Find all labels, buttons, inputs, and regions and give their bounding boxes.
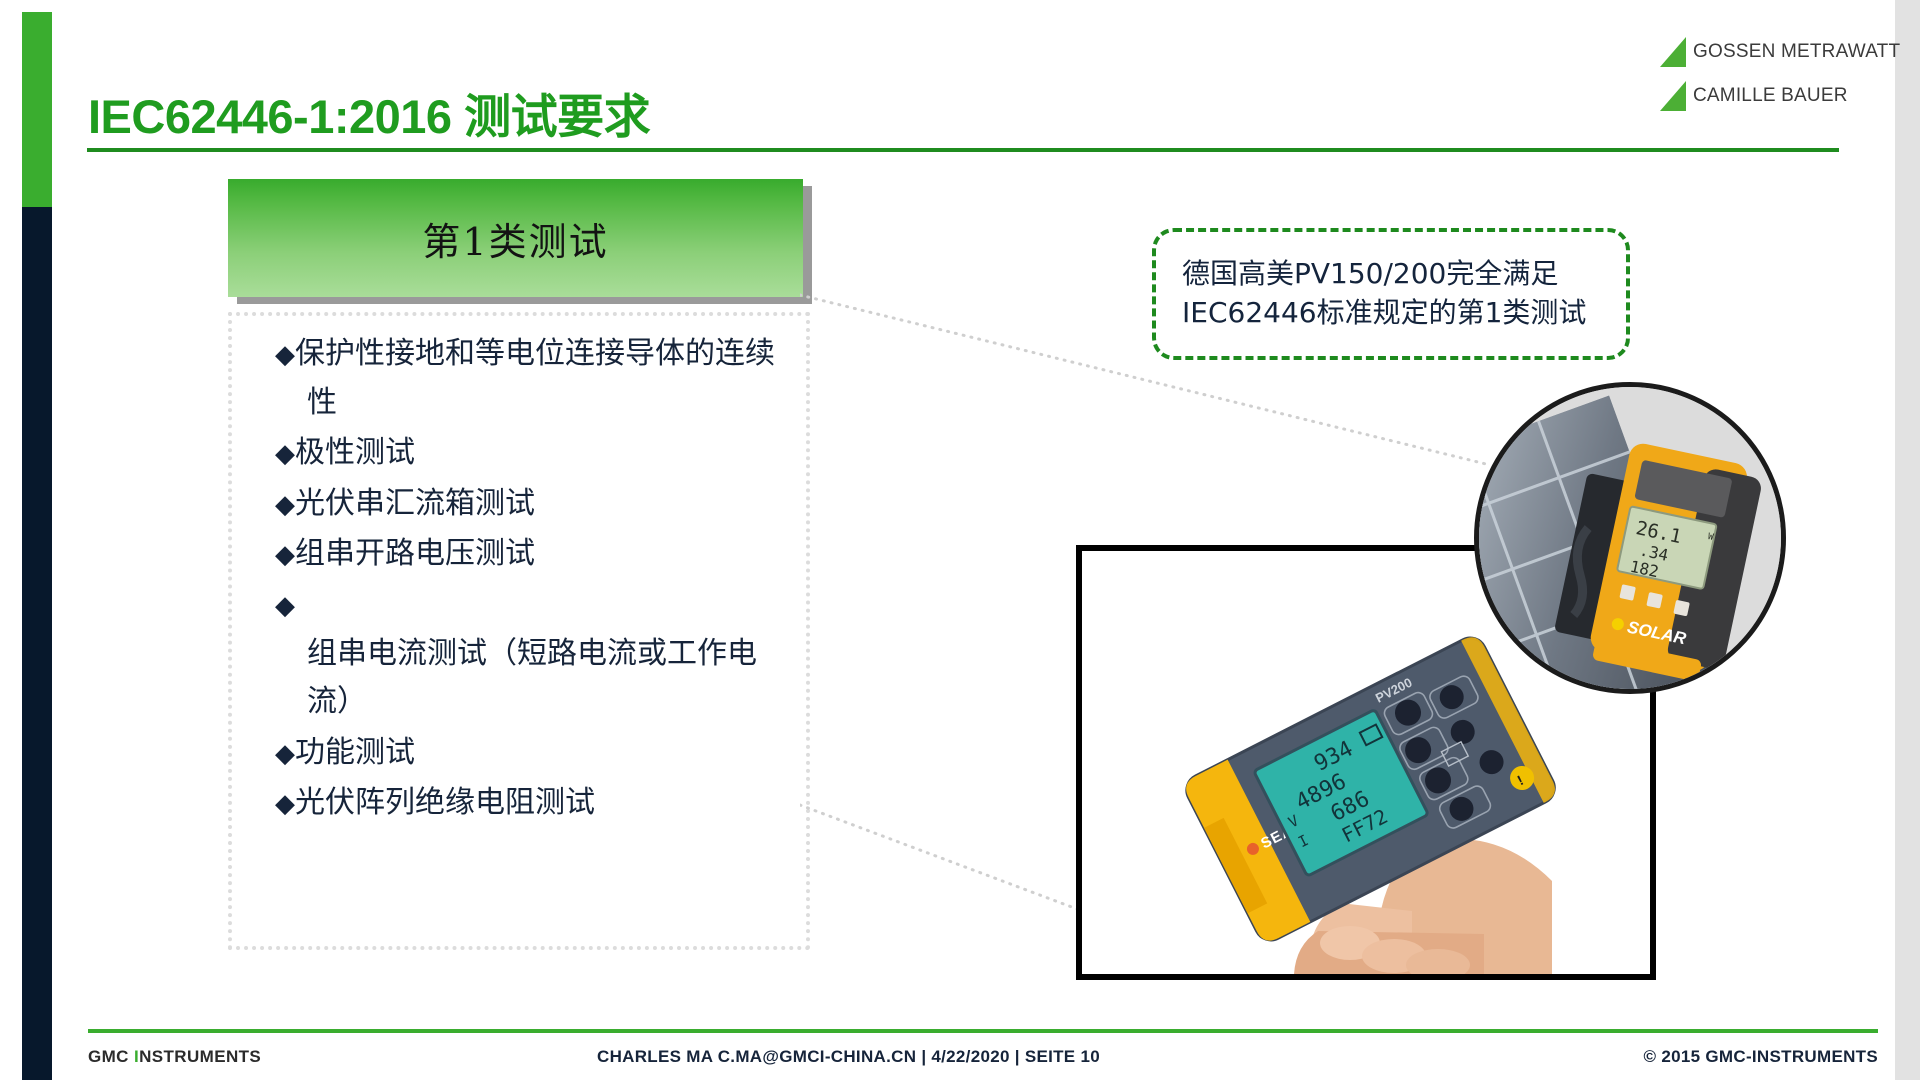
slide-canvas: IEC62446-1:2016 测试要求 GOSSEN METRAWATT CA… [0, 0, 1920, 1080]
diamond-bullet-icon: ◆ [275, 789, 295, 819]
list-item-label: 光伏串汇流箱测试 [295, 486, 535, 521]
right-edge-strip [1895, 0, 1920, 1080]
diamond-bullet-icon: ◆ [275, 439, 295, 469]
category-box: 第1类测试 [228, 177, 803, 297]
footer-copyright: © 2015 GMC-INSTRUMENTS [1644, 1047, 1879, 1067]
list-item: ◆功能测试 [275, 729, 795, 778]
triangle-icon [1660, 81, 1686, 111]
left-accent-bar-green [22, 12, 52, 207]
logo-row-gossen: GOSSEN METRAWATT [1660, 30, 1890, 74]
logo-row-camille: CAMILLE BAUER [1660, 74, 1890, 118]
logo-label-gossen: GOSSEN METRAWATT [1693, 41, 1900, 63]
footer-meta: CHARLES MA C.MA@GMCI-CHINA.CN | 4/22/202… [597, 1047, 1100, 1067]
list-item-label: 极性测试 [295, 435, 415, 470]
category-box-label: 第1类测试 [422, 211, 608, 266]
diamond-bullet-icon: ◆ [275, 490, 295, 520]
bullet-list: ◆保护性接地和等电位连接导体的连续性 ◆极性测试 ◆光伏串汇流箱测试 ◆组串开路… [275, 330, 795, 830]
page-title: IEC62446-1:2016 测试要求 [88, 78, 650, 147]
list-item-label: 功能测试 [295, 735, 415, 770]
left-accent-bar-dark [22, 207, 52, 1080]
list-item-label: 保护性接地和等电位连接导体的连续性 [295, 336, 775, 420]
footer-brand: GMC INSTRUMENTS [88, 1047, 261, 1067]
diamond-bullet-icon: ◆ [275, 591, 295, 621]
callout-line-1: 德国高美PV150/200完全满足 [1182, 255, 1626, 294]
logo-label-camille: CAMILLE BAUER [1693, 85, 1848, 107]
diamond-bullet-icon: ◆ [275, 739, 295, 769]
title-underline [87, 148, 1839, 152]
list-item-label: 组串开路电压测试 [295, 536, 535, 571]
list-item: ◆组串开路电压测试 [275, 530, 795, 579]
list-item-label: 组串电流测试（短路电流或工作电流） [307, 636, 757, 720]
diamond-bullet-icon: ◆ [275, 540, 295, 570]
corporate-logo: GOSSEN METRAWATT CAMILLE BAUER [1660, 30, 1890, 118]
list-item: ◆组串电流测试（短路电流或工作电流） [275, 581, 795, 727]
photo-circle-inset: 26.1 W .34 182 SOLAR [1474, 382, 1786, 694]
connector-line-lower [800, 800, 1090, 920]
diamond-bullet-icon: ◆ [275, 340, 295, 370]
list-item: ◆光伏阵列绝缘电阻测试 [275, 779, 795, 828]
callout-line-2: IEC62446标准规定的第1类测试 [1182, 294, 1626, 333]
list-item-label: 光伏阵列绝缘电阻测试 [295, 785, 595, 820]
list-item: ◆光伏串汇流箱测试 [275, 480, 795, 529]
photo-solar-irradiance-meter: 26.1 W .34 182 SOLAR [1479, 387, 1781, 689]
footer-brand-prefix: GMC [88, 1047, 134, 1066]
list-item: ◆保护性接地和等电位连接导体的连续性 [275, 330, 795, 427]
list-item: ◆极性测试 [275, 429, 795, 478]
footer-brand-suffix: NSTRUMENTS [139, 1047, 261, 1066]
callout-box: 德国高美PV150/200完全满足 IEC62446标准规定的第1类测试 [1152, 228, 1630, 360]
footer-divider [88, 1029, 1878, 1033]
triangle-icon [1660, 37, 1686, 67]
